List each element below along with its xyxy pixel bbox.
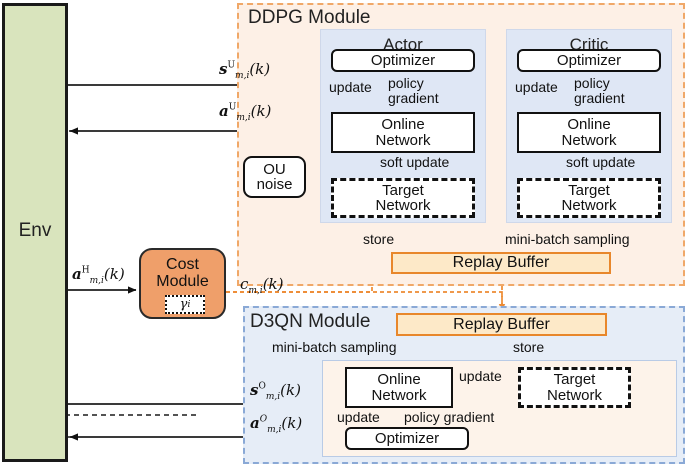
cost-line1: Cost	[166, 256, 199, 273]
cost-in-sup: H	[82, 266, 90, 276]
ddpg-replay-buffer[interactable]: Replay Buffer	[391, 252, 611, 274]
d3qn-store-label: store	[513, 340, 544, 355]
ddpg-action-sup: U	[229, 103, 237, 113]
cost-gamma-symbol: γ	[180, 297, 188, 312]
ddpg-action-var: a	[219, 102, 229, 120]
actor-soft-update-label: soft update	[380, 155, 449, 170]
d3qn-optimizer-box[interactable]: Optimizer	[345, 427, 469, 450]
critic-policy-gradient-label: policygradient	[574, 76, 625, 105]
ddpg-action-signal-label: aUm,i(k)	[219, 101, 271, 123]
ddpg-store-label: store	[363, 232, 394, 247]
d3qn-policy-gradient-label: policy gradient	[404, 410, 494, 425]
d3qn-module-title: D3QN Module	[250, 311, 370, 333]
cost-gamma-sub: i	[187, 300, 190, 310]
ddpg-state-sup: U	[227, 61, 235, 71]
critic-pg-line2: gradient	[574, 90, 625, 106]
actor-pg-line2: gradient	[388, 90, 439, 106]
actor-policy-gradient-label: policygradient	[388, 76, 439, 105]
ddpg-state-arg: (k)	[249, 60, 270, 78]
d3qn-action-signal-label: aOm,i(k)	[250, 413, 302, 435]
cost-in-arg: (k)	[104, 265, 125, 283]
critic-optimizer-box[interactable]: Optimizer	[517, 49, 661, 72]
cost-in-var: a	[72, 265, 82, 283]
cost-line2: Module	[156, 273, 208, 290]
ddpg-state-signal-label: sUm,i(k)	[219, 59, 270, 81]
critic-soft-update-label: soft update	[566, 155, 635, 170]
critic-online-line2: Network	[561, 132, 616, 149]
actor-optimizer-box[interactable]: Optimizer	[331, 49, 475, 72]
cost-out-sub: m,i	[248, 286, 262, 296]
critic-target-network-box[interactable]: TargetNetwork	[517, 178, 661, 218]
critic-pg-line1: policy	[574, 75, 610, 91]
d3qn-state-sup: O	[258, 382, 265, 392]
d3qn-state-arg: (k)	[280, 381, 301, 399]
cost-out-arg: (k)	[263, 275, 284, 293]
d3qn-update-optimizer-label: update	[337, 410, 380, 425]
cost-input-signal-label: aHm,i(k)	[72, 264, 125, 286]
d3qn-online-line2: Network	[371, 387, 426, 404]
d3qn-target-line2: Network	[547, 387, 602, 404]
actor-pg-line1: policy	[388, 75, 424, 91]
actor-target-line2: Network	[375, 197, 430, 214]
d3qn-state-sub: m,i	[266, 392, 280, 402]
critic-online-network-box[interactable]: OnlineNetwork	[517, 112, 661, 153]
critic-update-label: update	[515, 80, 558, 95]
d3qn-action-arg: (k)	[281, 414, 302, 432]
d3qn-replay-buffer[interactable]: Replay Buffer	[396, 313, 607, 336]
ddpg-sampling-label: mini-batch sampling	[505, 232, 630, 247]
actor-online-network-box[interactable]: OnlineNetwork	[331, 112, 475, 153]
actor-update-label: update	[329, 80, 372, 95]
d3qn-sampling-label: mini-batch sampling	[272, 340, 397, 355]
d3qn-online-network-box[interactable]: OnlineNetwork	[345, 367, 453, 408]
cost-module-label: CostModule	[141, 256, 224, 291]
ddpg-action-arg: (k)	[251, 102, 272, 120]
d3qn-state-signal-label: sOm,i(k)	[250, 380, 301, 402]
diagram-canvas: Env DDPG Module Actor Optimizer OnlineNe…	[0, 0, 687, 471]
d3qn-update-target-label: update	[459, 369, 502, 384]
ou-noise-box[interactable]: OUnoise	[243, 156, 306, 198]
d3qn-action-var: a	[250, 414, 260, 432]
ddpg-action-sub: m,i	[236, 113, 250, 123]
cost-output-signal-label: cm,i(k)	[240, 274, 283, 296]
cost-gamma-box: γi	[165, 295, 205, 314]
actor-target-network-box[interactable]: TargetNetwork	[331, 178, 475, 218]
cost-module-box[interactable]: CostModule γi	[139, 248, 226, 319]
critic-target-line2: Network	[561, 197, 616, 214]
d3qn-action-sub: m,i	[267, 425, 281, 435]
ou-noise-line2: noise	[257, 176, 293, 193]
ddpg-state-sub: m,i	[235, 71, 249, 81]
actor-online-line2: Network	[375, 132, 430, 149]
d3qn-target-network-box[interactable]: TargetNetwork	[518, 367, 631, 408]
ddpg-module-title: DDPG Module	[248, 7, 371, 29]
env-label: Env	[2, 220, 68, 242]
d3qn-action-sup: O	[260, 415, 267, 425]
cost-in-sub: m,i	[90, 276, 104, 286]
